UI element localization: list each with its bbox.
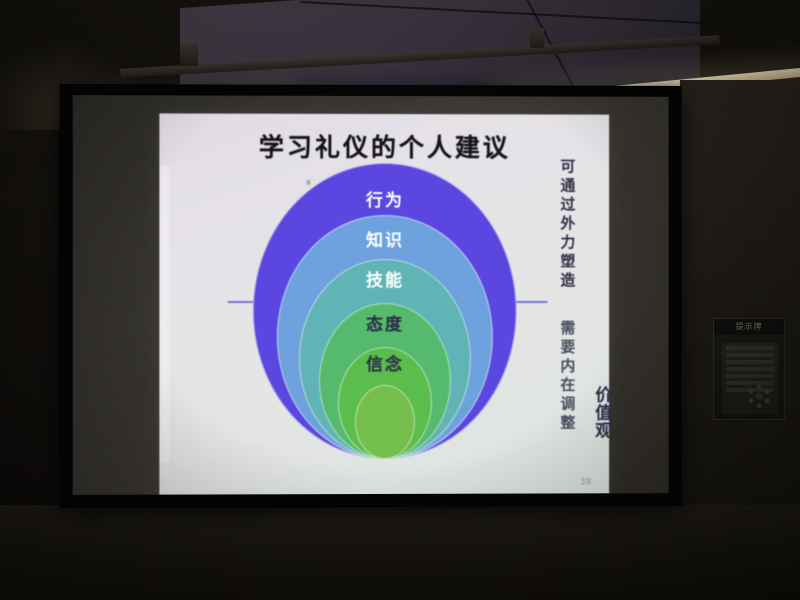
annotation-inner-adjustment: 需要内在调整: [557, 320, 578, 434]
projection-screen-frame: 学习礼仪的个人建议 行为知识技能态度信念价值观 可通过外力塑造 需要内在调整 3…: [61, 85, 681, 507]
wall-notice-header: 提示牌: [714, 319, 784, 335]
slide-number: 38: [580, 477, 591, 487]
projection-screen-surface: 学习礼仪的个人建议 行为知识技能态度信念价值观 可通过外力塑造 需要内在调整 3…: [73, 95, 669, 495]
rail-bracket: [530, 28, 544, 48]
wall-notice-board[interactable]: 提示牌: [713, 318, 785, 420]
foreground-surface: [0, 505, 800, 600]
rail-bracket: [180, 44, 198, 66]
wall-notice-row: [726, 374, 774, 378]
screenshot-stage: 提示牌 学习礼仪的个人建议 行为知识技能态度信念价值观 可通过外力塑造: [0, 0, 800, 600]
wall-notice-body: [722, 343, 778, 414]
annotation-outer-shaping: 可通过外力塑造: [557, 158, 578, 291]
wall-notice-row: [726, 353, 774, 357]
projected-slide: 学习礼仪的个人建议 行为知识技能态度信念价值观 可通过外力塑造 需要内在调整 3…: [159, 113, 609, 494]
nested-ellipse-diagram: 行为知识技能态度信念价值观: [159, 113, 609, 494]
wall-notice-row: [726, 346, 774, 350]
diagram-ring-6: [355, 385, 415, 459]
wall-notice-row: [726, 360, 774, 364]
wall-notice-row: [726, 367, 774, 371]
wall-notice-row: [726, 381, 774, 385]
dial-pad-icon: [747, 384, 771, 408]
